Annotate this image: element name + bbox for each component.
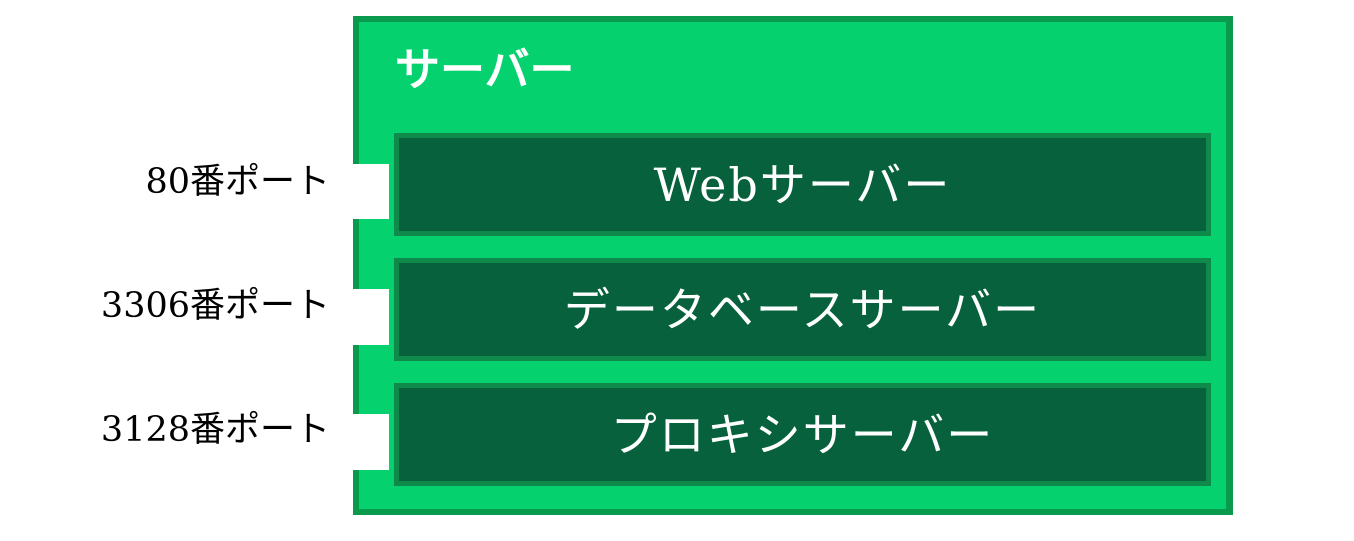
service-box-proxy-server: プロキシサーバー bbox=[394, 383, 1211, 486]
port-notch-80 bbox=[353, 164, 389, 219]
port-label-80: 80番ポート bbox=[145, 162, 330, 202]
service-box-database-server: データベースサーバー bbox=[394, 258, 1211, 361]
port-notch-3306 bbox=[353, 289, 389, 345]
port-label-3306: 3306番ポート bbox=[101, 286, 330, 326]
server-container: サーバー Webサーバー データベースサーバー プロキシサーバー bbox=[353, 16, 1233, 515]
port-label-3128: 3128番ポート bbox=[101, 410, 330, 450]
diagram-canvas: 80番ポート 3306番ポート 3128番ポート サーバー Webサーバー デー… bbox=[0, 0, 1354, 541]
service-label-database-server: データベースサーバー bbox=[564, 285, 1041, 335]
service-box-web-server: Webサーバー bbox=[394, 133, 1211, 236]
service-label-web-server: Webサーバー bbox=[654, 160, 952, 210]
service-label-proxy-server: プロキシサーバー bbox=[611, 410, 995, 460]
server-title: サーバー bbox=[395, 46, 575, 94]
port-notch-3128 bbox=[353, 414, 389, 470]
